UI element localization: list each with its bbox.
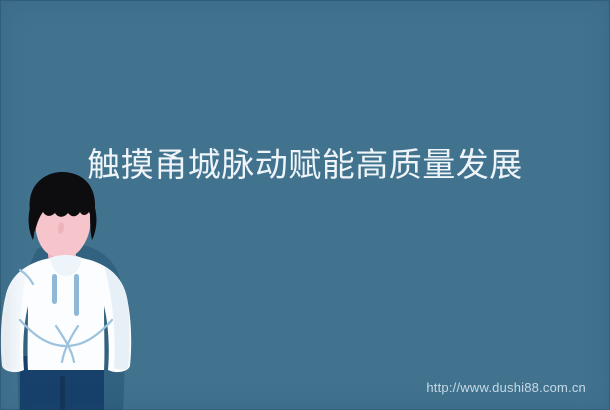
page-title: 触摸甬城脉动赋能高质量发展 (0, 145, 610, 185)
source-watermark: http://www.dushi88.com.cn (426, 380, 586, 396)
poster-canvas: 触摸甬城脉动赋能高质量发展 http://www.dushi88.com.cn (0, 0, 610, 410)
figure-hoodie (1, 255, 131, 372)
illustration-young-man-hoodie (0, 170, 144, 410)
